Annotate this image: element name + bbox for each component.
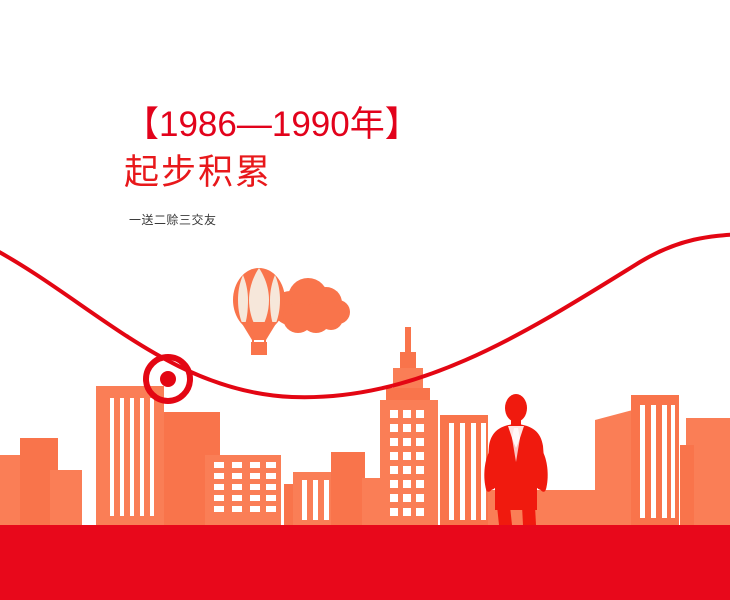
curve-point-marker-dot — [160, 371, 176, 387]
page-title-theme: 起步积累 — [124, 152, 420, 194]
page-subtitle: 一送二赊三交友 — [129, 212, 420, 228]
page-title-period: 【1986—1990年】 — [124, 104, 420, 146]
ground-and-marker-layer — [0, 0, 730, 600]
headline-block: 【1986—1990年】 起步积累 一送二赊三交友 — [124, 104, 420, 228]
slide-canvas: 【1986—1990年】 起步积累 一送二赊三交友 — [0, 0, 730, 600]
ground-band — [0, 525, 730, 600]
